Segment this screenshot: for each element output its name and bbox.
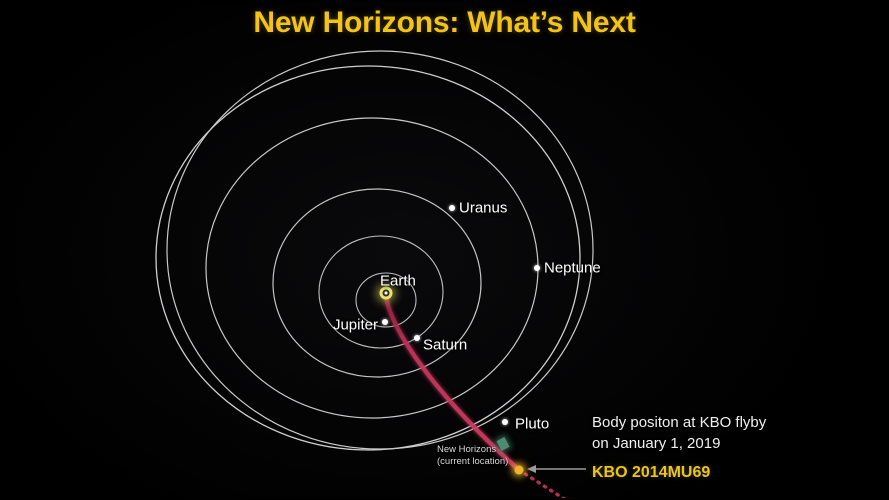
annotation-line-1: Body positon at KBO flyby	[592, 412, 872, 433]
planet-dot-uranus	[449, 205, 455, 211]
planet-dot-jupiter	[382, 319, 388, 325]
planet-label-uranus: Uranus	[459, 200, 507, 217]
kbo-target-name: KBO 2014MU69	[592, 463, 872, 483]
orbit-rings	[156, 51, 593, 450]
new-horizons-label-line1: New Horizons	[437, 444, 508, 456]
orbit-uranus	[206, 118, 538, 418]
new-horizons-label-line2: (current location)	[437, 456, 508, 468]
annotation-block: Body positon at KBO flyby on January 1, …	[592, 412, 872, 483]
diagram-canvas: New Horizons: What’s Next	[0, 0, 889, 500]
orbit-neptune	[156, 66, 580, 450]
planet-label-jupiter: Jupiter	[333, 317, 378, 334]
annotation-line-2: on January 1, 2019	[592, 433, 872, 454]
new-horizons-trajectory-extension	[519, 470, 566, 500]
planet-dot-neptune	[534, 265, 540, 271]
planet-dot-pluto	[502, 419, 508, 425]
kbo-target-marker	[515, 466, 524, 475]
new-horizons-label: New Horizons (current location)	[437, 444, 508, 468]
planet-dot-earth	[385, 292, 388, 295]
planet-dot-saturn	[414, 335, 420, 341]
planet-label-neptune: Neptune	[544, 260, 601, 277]
orbit-pluto	[167, 51, 593, 449]
planet-label-saturn: Saturn	[423, 337, 467, 354]
planet-label-pluto: Pluto	[515, 416, 549, 433]
planet-label-earth: Earth	[380, 273, 416, 290]
kbo-pointer-arrow	[527, 465, 586, 473]
